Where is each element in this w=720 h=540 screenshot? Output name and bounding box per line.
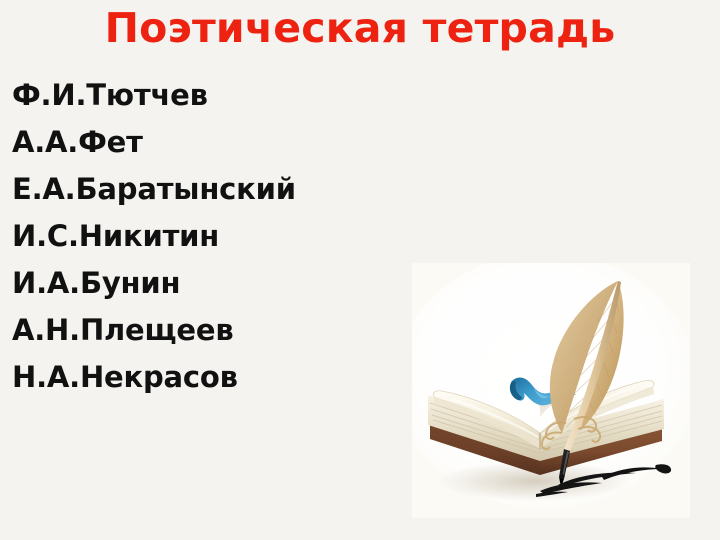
poet-list: Ф.И.Тютчев А.А.Фет Е.А.Баратынский И.С.Н… xyxy=(12,72,412,401)
list-item: Н.А.Некрасов xyxy=(12,354,412,401)
list-item: А.Н.Плещеев xyxy=(12,307,412,354)
page-title: Поэтическая тетрадь xyxy=(0,2,720,54)
book-quill-illustration xyxy=(412,263,690,518)
list-item: Е.А.Баратынский xyxy=(12,166,412,213)
slide-canvas: Поэтическая тетрадь Ф.И.Тютчев А.А.Фет Е… xyxy=(0,0,720,540)
list-item: А.А.Фет xyxy=(12,119,412,166)
list-item: Ф.И.Тютчев xyxy=(12,72,412,119)
list-item: И.С.Никитин xyxy=(12,213,412,260)
list-item: И.А.Бунин xyxy=(12,260,412,307)
